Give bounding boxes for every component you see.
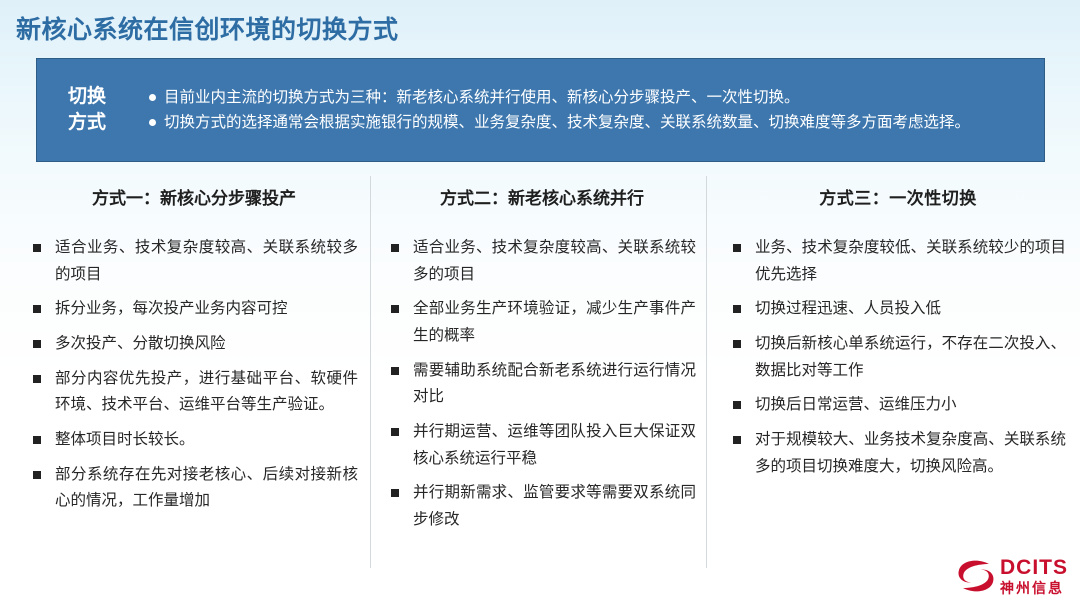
square-bullet-icon — [33, 244, 41, 252]
list-item-text: 并行期新需求、监管要求等需要双系统同步修改 — [413, 484, 696, 528]
logo-en-text: DCITS — [1000, 557, 1068, 578]
square-bullet-icon — [733, 340, 741, 348]
list-item-text: 对于规模较大、业务技术复杂度高、关联系统多的项目切换难度大，切换风险高。 — [755, 431, 1066, 475]
list-item-text: 部分系统存在先对接老核心、后续对接新核心的情况，工作量增加 — [55, 466, 358, 510]
square-bullet-icon — [33, 340, 41, 348]
slide-canvas: 新核心系统在信创环境的切换方式 切换 方式 目前业内主流的切换方式为三种：新老核… — [0, 0, 1080, 608]
methods-columns: 方式一：新核心分步骤投产 适合业务、技术复杂度较高、关联系统较多的项目 拆分业务… — [0, 176, 1080, 576]
square-bullet-icon — [733, 401, 741, 409]
list-item: 部分系统存在先对接老核心、后续对接新核心的情况，工作量增加 — [30, 462, 358, 515]
square-bullet-icon — [733, 436, 741, 444]
list-item-text: 切换过程迅速、人员投入低 — [755, 300, 941, 317]
square-bullet-icon — [391, 305, 399, 313]
banner-label: 切换 方式 — [37, 59, 137, 161]
list-item: 整体项目时长较长。 — [30, 427, 358, 454]
square-bullet-icon — [733, 305, 741, 313]
method-column-1: 方式一：新核心分步骤投产 适合业务、技术复杂度较高、关联系统较多的项目 拆分业务… — [0, 176, 370, 576]
logo-text: DCITS 神州信息 — [1000, 557, 1068, 595]
company-logo: DCITS 神州信息 — [956, 554, 1068, 598]
list-item: 拆分业务，每次投产业务内容可控 — [30, 296, 358, 323]
list-item-text: 适合业务、技术复杂度较高、关联系统较多的项目 — [413, 239, 696, 283]
banner-bullet-text: 目前业内主流的切换方式为三种：新老核心系统并行使用、新核心分步骤投产、一次性切换… — [164, 86, 1030, 109]
logo-cn-text: 神州信息 — [1000, 581, 1068, 595]
banner-label-line1: 切换 — [68, 84, 106, 110]
column-bullet-list: 适合业务、技术复杂度较高、关联系统较多的项目 拆分业务，每次投产业务内容可控 多… — [30, 235, 358, 515]
list-item-text: 并行期运营、运维等团队投入巨大保证双核心系统运行平稳 — [413, 423, 696, 467]
square-bullet-icon — [391, 428, 399, 436]
square-bullet-icon — [33, 305, 41, 313]
list-item: 多次投产、分散切换风险 — [30, 331, 358, 358]
list-item: 对于规模较大、业务技术复杂度高、关联系统多的项目切换难度大，切换风险高。 — [730, 427, 1066, 480]
column-title: 方式三：一次性切换 — [730, 184, 1066, 209]
bullet-dot-icon — [149, 119, 156, 126]
page-title: 新核心系统在信创环境的切换方式 — [16, 10, 399, 46]
list-item-text: 需要辅助系统配合新老系统进行运行情况对比 — [413, 362, 696, 406]
list-item: 切换后日常运营、运维压力小 — [730, 392, 1066, 419]
list-item-text: 多次投产、分散切换风险 — [55, 335, 226, 352]
banner-bullet: 目前业内主流的切换方式为三种：新老核心系统并行使用、新核心分步骤投产、一次性切换… — [149, 86, 1030, 109]
banner-bullet-text: 切换方式的选择通常会根据实施银行的规模、业务复杂度、技术复杂度、关联系统数量、切… — [164, 111, 1030, 134]
list-item-text: 切换后新核心单系统运行，不存在二次投入、数据比对等工作 — [755, 335, 1066, 379]
banner-label-line2: 方式 — [68, 110, 106, 136]
square-bullet-icon — [391, 367, 399, 375]
list-item: 全部业务生产环境验证，减少生产事件产生的概率 — [388, 296, 696, 349]
list-item: 适合业务、技术复杂度较高、关联系统较多的项目 — [388, 235, 696, 288]
square-bullet-icon — [391, 244, 399, 252]
method-column-3: 方式三：一次性切换 业务、技术复杂度较低、关联系统较少的项目优先选择 切换过程迅… — [706, 176, 1080, 576]
column-title: 方式二：新老核心系统并行 — [388, 184, 696, 209]
list-item: 适合业务、技术复杂度较高、关联系统较多的项目 — [30, 235, 358, 288]
square-bullet-icon — [391, 489, 399, 497]
switch-method-banner: 切换 方式 目前业内主流的切换方式为三种：新老核心系统并行使用、新核心分步骤投产… — [36, 58, 1045, 162]
list-item-text: 切换后日常运营、运维压力小 — [755, 396, 957, 413]
list-item: 需要辅助系统配合新老系统进行运行情况对比 — [388, 358, 696, 411]
column-bullet-list: 适合业务、技术复杂度较高、关联系统较多的项目 全部业务生产环境验证，减少生产事件… — [388, 235, 696, 534]
list-item: 并行期新需求、监管要求等需要双系统同步修改 — [388, 480, 696, 533]
banner-body: 目前业内主流的切换方式为三种：新老核心系统并行使用、新核心分步骤投产、一次性切换… — [137, 59, 1044, 161]
column-title: 方式一：新核心分步骤投产 — [30, 184, 358, 209]
list-item: 切换过程迅速、人员投入低 — [730, 296, 1066, 323]
list-item: 部分内容优先投产，进行基础平台、软硬件环境、技术平台、运维平台等生产验证。 — [30, 366, 358, 419]
square-bullet-icon — [33, 471, 41, 479]
list-item: 业务、技术复杂度较低、关联系统较少的项目优先选择 — [730, 235, 1066, 288]
banner-bullet: 切换方式的选择通常会根据实施银行的规模、业务复杂度、技术复杂度、关联系统数量、切… — [149, 111, 1030, 134]
square-bullet-icon — [733, 244, 741, 252]
list-item-text: 全部业务生产环境验证，减少生产事件产生的概率 — [413, 300, 696, 344]
list-item-text: 整体项目时长较长。 — [55, 431, 195, 448]
list-item-text: 拆分业务，每次投产业务内容可控 — [55, 300, 288, 317]
list-item: 切换后新核心单系统运行，不存在二次投入、数据比对等工作 — [730, 331, 1066, 384]
square-bullet-icon — [33, 375, 41, 383]
list-item-text: 适合业务、技术复杂度较高、关联系统较多的项目 — [55, 239, 358, 283]
square-bullet-icon — [33, 436, 41, 444]
method-column-2: 方式二：新老核心系统并行 适合业务、技术复杂度较高、关联系统较多的项目 全部业务… — [370, 176, 706, 576]
column-bullet-list: 业务、技术复杂度较低、关联系统较少的项目优先选择 切换过程迅速、人员投入低 切换… — [730, 235, 1066, 480]
bullet-dot-icon — [149, 94, 156, 101]
list-item-text: 部分内容优先投产，进行基础平台、软硬件环境、技术平台、运维平台等生产验证。 — [55, 370, 358, 414]
dcits-swoosh-icon — [956, 557, 996, 595]
list-item: 并行期运营、运维等团队投入巨大保证双核心系统运行平稳 — [388, 419, 696, 472]
list-item-text: 业务、技术复杂度较低、关联系统较少的项目优先选择 — [755, 239, 1066, 283]
